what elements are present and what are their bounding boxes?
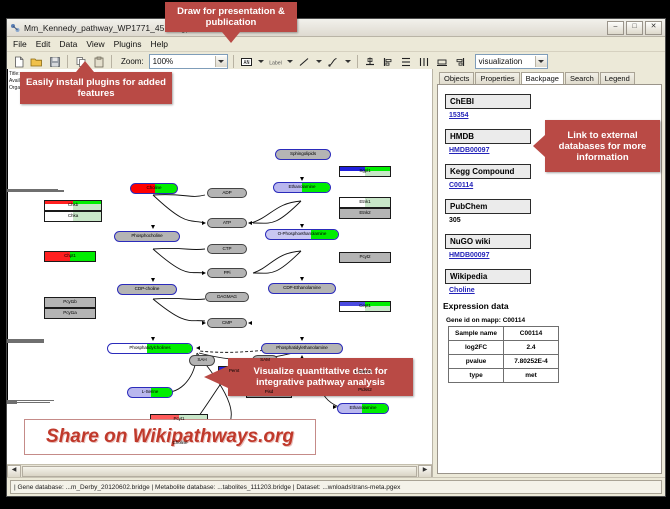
node-label: Pemt (229, 369, 239, 374)
callout-links-pointer (533, 135, 545, 157)
gene-id-label: Gene id on mapp: C00114 (446, 317, 661, 324)
statusbar: | Gene database: ...m_Derby_20120602.bri… (10, 480, 662, 494)
interaction-icon[interactable] (326, 54, 341, 69)
node-label: Etnk2 (359, 211, 370, 216)
size-icon[interactable] (435, 54, 450, 69)
table-row: log2FC 2.4 (449, 341, 559, 355)
node-label: CDP-choline (135, 287, 160, 292)
edge-pcyt1-bottom (7, 403, 17, 404)
zoom-label: Zoom: (121, 57, 144, 66)
row-value: 7.80252E-4 (504, 355, 559, 369)
db-wikipedia: Wikipedia Choline (445, 266, 661, 294)
node-pcyt1a[interactable]: Pcyt1a (44, 308, 96, 319)
menu-file[interactable]: File (13, 39, 27, 49)
statusbar-text: | Gene database: ...m_Derby_20120602.bri… (14, 484, 400, 491)
node-o-phosphoethanolamine[interactable]: O-Phosphoethanolamine (265, 229, 339, 240)
node-label: CTP (223, 247, 232, 252)
node-label: Pcyt1a (63, 311, 76, 316)
node-label: ATP (223, 221, 231, 226)
callout-draw-pointer (222, 32, 240, 43)
table-row: pvalue 7.80252E-4 (449, 355, 559, 369)
db-hmdb-header: HMDB (445, 129, 531, 144)
tab-properties[interactable]: Properties (475, 72, 519, 84)
line-icon[interactable] (297, 54, 312, 69)
node-choline-top[interactable]: Choline (130, 183, 178, 194)
node-label: Phosphatidylethanolamine (276, 346, 328, 351)
node-ethanolamine-1[interactable]: Ethanolamine (273, 182, 331, 193)
db-pubchem: PubChem 305 (445, 196, 661, 224)
node-label: Etnk1 (359, 200, 370, 205)
pathvisio-icon (10, 23, 20, 33)
menu-plugins[interactable]: Plugins (114, 39, 142, 49)
align-left-icon[interactable] (381, 54, 396, 69)
label-dropdown-icon[interactable] (286, 54, 294, 69)
row-value: 2.4 (504, 341, 559, 355)
node-cept1[interactable]: Cept1 (339, 301, 391, 312)
statusbar-area: | Gene database: ...m_Derby_20120602.bri… (7, 477, 665, 496)
pathway-canvas[interactable]: Title: Availa Organi (7, 69, 432, 464)
node-label: Choline (173, 441, 188, 446)
node-l-serine-left[interactable]: L-Serine (127, 387, 173, 398)
cofactor-curves-left (147, 187, 217, 332)
align-bottom-icon[interactable] (363, 54, 378, 69)
node-label: Sphingolipids (290, 152, 316, 157)
node-label: ADP (222, 191, 231, 196)
node-phosphatidylcholines[interactable]: Phosphatidylcholines (107, 343, 193, 354)
edge-cept1-to-reaction (7, 342, 44, 343)
open-folder-icon[interactable] (29, 54, 44, 69)
node-label: Chpt1 (64, 254, 76, 259)
node-label: Choline (147, 186, 162, 191)
node-label: Chkb (68, 203, 78, 208)
db-nugo-header: NuGO wiki (445, 234, 531, 249)
db-kegg-link[interactable]: C00114 (449, 182, 661, 189)
node-phosphocholine[interactable]: Phosphocholine (114, 231, 180, 242)
node-etnk2[interactable]: Etnk2 (339, 208, 391, 219)
menu-view[interactable]: View (86, 39, 104, 49)
screenshot-root: Mm_Kennedy_pathway_WP1771_45176.gpml – □… (0, 0, 670, 509)
toolbar-separator-2 (111, 55, 112, 68)
node-dagmag[interactable]: DAGMAG (205, 292, 249, 302)
node-label: DAGMAG (217, 295, 237, 300)
db-chebi-link[interactable]: 15354 (449, 112, 661, 119)
svg-text:AN: AN (243, 60, 249, 66)
align-right-icon[interactable] (453, 54, 468, 69)
label-icon[interactable]: Label (268, 54, 283, 69)
tab-objects[interactable]: Objects (439, 72, 474, 84)
toolbar-separator-1 (67, 55, 68, 68)
edge-choline-phosphocholine (7, 69, 8, 103)
node-label: Pcyt1 (174, 417, 185, 422)
chevron-down-icon[interactable] (215, 56, 227, 67)
db-pubchem-value: 305 (449, 217, 661, 224)
node-label: Sgpl1 (359, 169, 370, 174)
side-panel-tabs: Objects Properties Backpage Search Legen… (433, 69, 665, 84)
arrowhead (300, 337, 304, 341)
node-label: Ptdss2 (358, 388, 371, 393)
node-sah[interactable]: SAH (189, 355, 215, 366)
svg-text:Label: Label (269, 60, 282, 66)
arrowhead (151, 337, 155, 341)
window-titlebar: Mm_Kennedy_pathway_WP1771_45176.gpml – □… (7, 19, 665, 37)
node-chpt1[interactable]: Chpt1 (44, 251, 96, 262)
arrowhead (202, 321, 206, 325)
expression-table: Sample name C00114 log2FC 2.4 pvalue 7.8… (448, 326, 559, 383)
edge-pe-branch-down (7, 356, 8, 400)
callout-share: Share on Wikipathways.org (24, 419, 316, 455)
db-wikipedia-header: Wikipedia (445, 269, 531, 284)
toolbar-separator-3 (233, 55, 234, 68)
line-dropdown-icon[interactable] (315, 54, 323, 69)
window-controls: – □ ✕ (607, 21, 662, 35)
row-key: Sample name (449, 327, 504, 341)
node-sphingolipids[interactable]: Sphingolipids (275, 149, 331, 160)
node-pcyt2[interactable]: Pcyt2 (339, 252, 391, 263)
node-ethanolamine-2[interactable]: Ethanolamine (337, 403, 389, 414)
node-label: Ethanolamine (289, 185, 316, 190)
node-pcyt1b[interactable]: Pcyt1b (44, 297, 96, 308)
edge-cdpcholine-ptdcholine (7, 143, 8, 189)
visualization-combobox[interactable]: visualization (475, 54, 548, 69)
menu-data[interactable]: Data (59, 39, 77, 49)
zoom-value: 100% (153, 57, 173, 66)
arrowhead (202, 221, 206, 225)
node-atp[interactable]: ATP (207, 218, 247, 228)
arrowhead (248, 321, 252, 325)
table-row: type met (449, 369, 559, 383)
db-nugo-link[interactable]: HMDB00097 (449, 252, 661, 259)
datanode-dropdown-icon[interactable] (257, 54, 265, 69)
node-label: Chka (68, 214, 78, 219)
node-cdp-choline[interactable]: CDP-choline (117, 284, 177, 295)
node-label: Ethanolamine (350, 406, 377, 411)
menu-help[interactable]: Help (151, 39, 168, 49)
db-chebi-header: ChEBI (445, 94, 531, 109)
save-icon[interactable] (47, 54, 62, 69)
node-cmp[interactable]: CMP (207, 318, 247, 328)
node-cdp-ethanolamine[interactable]: CDP-Ethanolamine (268, 283, 336, 294)
row-key: pvalue (449, 355, 504, 369)
row-value: met (504, 369, 559, 383)
table-row: Sample name C00114 (449, 327, 559, 341)
menubar: File Edit Data View Plugins Help (7, 37, 665, 52)
expression-data-title: Expression data (443, 301, 661, 311)
edge-pcyt1-to-reaction (7, 191, 64, 192)
callout-visualize: Visualize quantitative data for integrat… (228, 358, 413, 396)
node-sgpl1[interactable]: Sgpl1 (339, 166, 391, 177)
node-label: Phosphocholine (131, 234, 162, 239)
callout-links: Link to external databases for more info… (545, 120, 660, 172)
db-wikipedia-link[interactable]: Choline (449, 287, 661, 294)
new-file-icon[interactable] (11, 54, 26, 69)
node-label: Pisd (265, 390, 274, 395)
node-label: SAH (197, 358, 206, 363)
node-label: Cept1 (359, 304, 371, 309)
distribute-icon[interactable] (417, 54, 432, 69)
close-button[interactable]: ✕ (645, 21, 662, 35)
callout-plugins: Easily install plugins for added feature… (20, 72, 172, 104)
node-label: SAM (260, 358, 270, 363)
callout-plugins-pointer (76, 61, 94, 72)
node-label: CDP-Ethanolamine (283, 286, 321, 291)
menu-edit[interactable]: Edit (36, 39, 51, 49)
db-kegg-header: Kegg Compound (445, 164, 531, 179)
node-label: Pcyt2 (360, 255, 371, 260)
scroll-right-button[interactable]: ▶ (418, 465, 432, 478)
node-label: PPi (224, 271, 231, 276)
zoom-combobox[interactable]: 100% (149, 54, 228, 69)
db-pubchem-header: PubChem (445, 199, 531, 214)
edge-cdpethanolamine-pe (7, 291, 8, 339)
datanode-icon[interactable]: AN (239, 54, 254, 69)
interaction-dropdown-icon[interactable] (344, 54, 352, 69)
scroll-thumb[interactable] (22, 466, 417, 477)
arrowhead (202, 271, 206, 275)
stack-vertical-icon[interactable] (399, 54, 414, 69)
edge-sphingolipids-ethanolamine (7, 192, 8, 214)
edge-ethanolamine-phosphoethanolamine (7, 214, 8, 249)
chevron-down-icon[interactable] (535, 56, 547, 67)
node-ppi[interactable]: PPi (207, 268, 247, 278)
arrowhead (300, 177, 304, 181)
node-label: CMP (222, 321, 232, 326)
minimize-button[interactable]: – (607, 21, 624, 35)
pathway-canvas-panel[interactable]: Title: Availa Organi (7, 69, 433, 477)
node-label: L-Serine (142, 390, 159, 395)
node-chkb[interactable]: Chkb (44, 200, 102, 211)
node-phosphatidylethanolamine[interactable]: Phosphatidylethanolamine (261, 343, 343, 354)
tab-search[interactable]: Search (565, 72, 599, 84)
arrowhead (248, 221, 252, 225)
db-chebi: ChEBI 15354 (445, 91, 661, 119)
node-etnk1[interactable]: Etnk1 (339, 197, 391, 208)
node-label: L-Serine (355, 370, 372, 375)
callout-draw: Draw for presentation & publication (165, 2, 297, 32)
maximize-button[interactable]: □ (626, 21, 643, 35)
canvas-horizontal-scrollbar[interactable]: ◀ ▶ (7, 464, 432, 477)
row-key: log2FC (449, 341, 504, 355)
scroll-left-button[interactable]: ◀ (7, 465, 21, 478)
node-label: O-Phosphoethanolamine (278, 232, 327, 237)
edge-phosphocholine-cdpcholine (7, 103, 8, 143)
node-label: Phosphatidylcholines (129, 346, 170, 351)
node-adp[interactable]: ADP (207, 188, 247, 198)
node-chka[interactable]: Chka (44, 211, 102, 222)
visualization-value: visualization (479, 57, 523, 66)
node-ctp[interactable]: CTP (207, 244, 247, 254)
edge-phosphoethanolamine-cdpethanolamine (7, 249, 8, 291)
db-nugo: NuGO wiki HMDB00097 (445, 231, 661, 259)
cofactor-curves-right (245, 197, 305, 317)
tab-legend[interactable]: Legend (600, 72, 635, 84)
callout-visualize-pointer (204, 366, 228, 388)
node-label: Pcyt1b (63, 300, 76, 305)
toolbar-separator-4 (357, 55, 358, 68)
edge-pemt-link (7, 343, 8, 356)
row-value: C00114 (504, 327, 559, 341)
row-key: type (449, 369, 504, 383)
